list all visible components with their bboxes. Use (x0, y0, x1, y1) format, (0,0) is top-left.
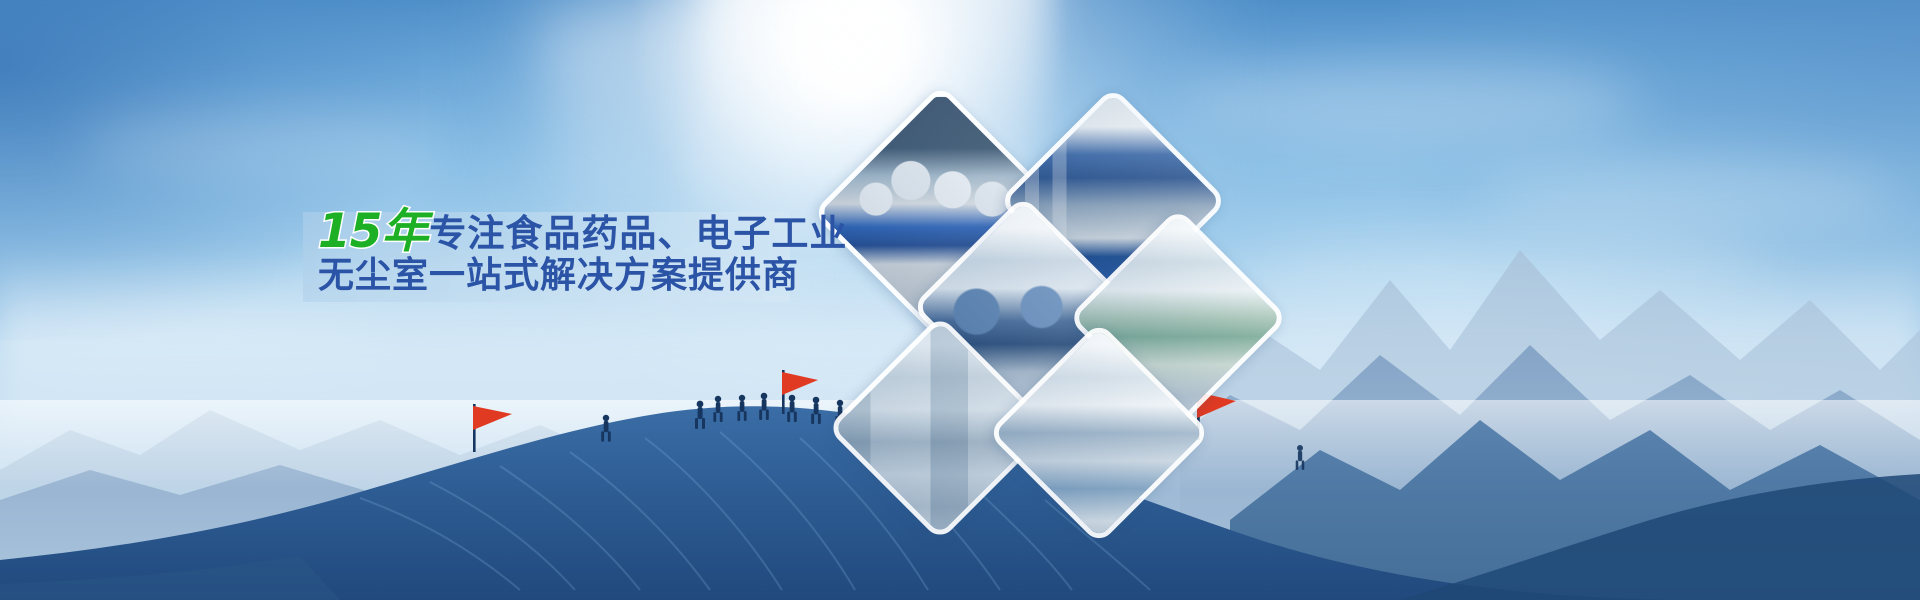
years-badge: 15年 (318, 208, 427, 256)
hero-banner: 15年 专注食品药品、电子工业 无尘室一站式解决方案提供商 (0, 0, 1920, 600)
flag (473, 404, 512, 452)
headline-line-1: 15年 专注食品药品、电子工业 (318, 205, 788, 253)
headline-line-1-text: 专注食品药品、电子工业 (429, 215, 847, 253)
headline-line-2: 无尘室一站式解决方案提供商 (318, 258, 788, 295)
flag (782, 370, 818, 414)
photo-collage (840, 92, 1280, 472)
headline: 15年 专注食品药品、电子工业 无尘室一站式解决方案提供商 (318, 205, 788, 295)
